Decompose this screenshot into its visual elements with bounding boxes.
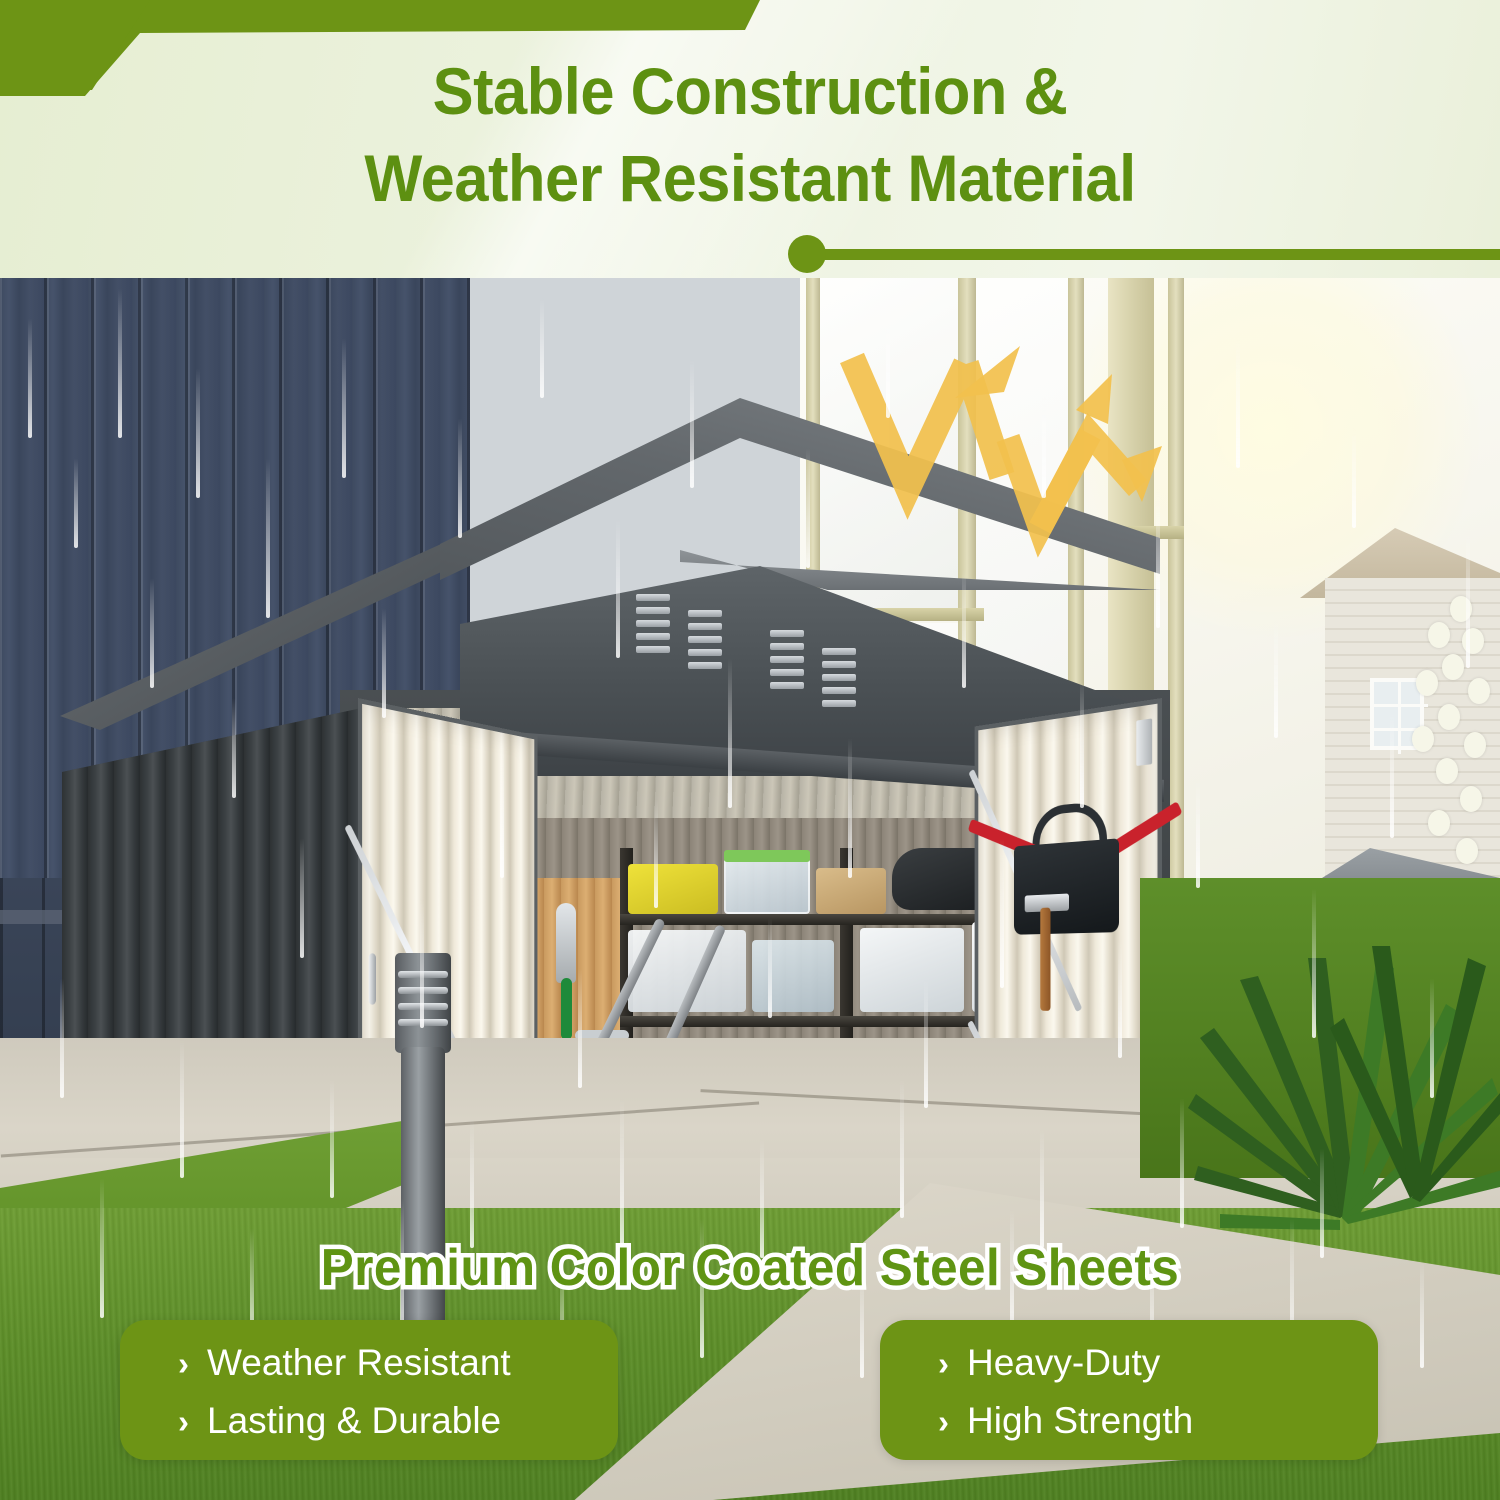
bloom [1428, 810, 1450, 836]
feature-label: High Strength [967, 1400, 1193, 1442]
bin-green-lid [724, 850, 810, 862]
chevron-right-icon: › [938, 1347, 949, 1380]
page-title: Stable Construction & Weather Resistant … [53, 48, 1448, 222]
page-title-line-2: Weather Resistant Material [53, 135, 1448, 222]
bin-translucent-mid [752, 940, 834, 1012]
roof-vent-4 [822, 648, 856, 720]
bloom [1438, 704, 1460, 730]
door-right-hinge-top [1136, 718, 1152, 766]
bloom [1416, 670, 1438, 696]
roof-vent-2 [688, 610, 722, 682]
lamp-fin-3 [398, 1003, 448, 1010]
bloom [1468, 678, 1490, 704]
bloom [1462, 628, 1484, 654]
feature-card-right: › Heavy-Duty › High Strength [880, 1320, 1378, 1460]
tool-trowel [556, 903, 576, 983]
lamp-fin-2 [398, 987, 448, 994]
feature-label: Weather Resistant [207, 1342, 511, 1384]
bloom [1460, 786, 1482, 812]
bloom [1428, 622, 1450, 648]
bin-yellow-bag [628, 864, 718, 914]
page-title-line-1: Stable Construction & [433, 54, 1068, 128]
footer-subtitle: Premium Color Coated Steel Sheets [38, 1238, 1463, 1298]
title-accent-line [808, 249, 1500, 260]
feature-card-left: › Weather Resistant › Lasting & Durable [120, 1320, 618, 1460]
lamp-fin-1 [398, 971, 448, 978]
header-banner: Stable Construction & Weather Resistant … [0, 0, 1500, 278]
tool-trowel-handle [561, 978, 572, 1040]
tool-bag [1014, 838, 1119, 934]
feature-label: Lasting & Durable [207, 1400, 501, 1442]
yucca-flower-spike [1398, 596, 1500, 926]
bloom [1450, 596, 1472, 622]
feature-item: › Heavy-Duty [938, 1342, 1160, 1384]
bin-clear-top [724, 858, 810, 914]
hammer-grip [1040, 908, 1050, 1011]
feature-item: › Lasting & Durable [178, 1400, 501, 1442]
feature-item: › High Strength [938, 1400, 1193, 1442]
bloom [1436, 758, 1458, 784]
product-photo [0, 278, 1500, 1500]
feature-item: › Weather Resistant [178, 1342, 511, 1384]
title-accent-dot [788, 235, 826, 273]
roof-vent-3 [770, 630, 804, 702]
bloom [1442, 654, 1464, 680]
door-left-handle[interactable] [369, 953, 376, 1005]
yucca-plant-far-right [1320, 898, 1500, 1218]
product-feature-banner: Stable Construction & Weather Resistant … [0, 0, 1500, 1500]
garden-bollard-lamp [395, 953, 451, 1373]
lamp-fin-4 [398, 1019, 448, 1026]
chevron-right-icon: › [938, 1405, 949, 1438]
chevron-right-icon: › [178, 1347, 189, 1380]
bin-cardboard-box [816, 868, 886, 914]
water-deflection-arrows [790, 338, 1190, 568]
bloom [1464, 732, 1486, 758]
chevron-right-icon: › [178, 1405, 189, 1438]
bloom [1412, 726, 1434, 752]
bloom [1456, 838, 1478, 864]
bin-white-right [860, 928, 964, 1012]
roof-vent-1 [636, 594, 670, 666]
feature-label: Heavy-Duty [967, 1342, 1160, 1384]
